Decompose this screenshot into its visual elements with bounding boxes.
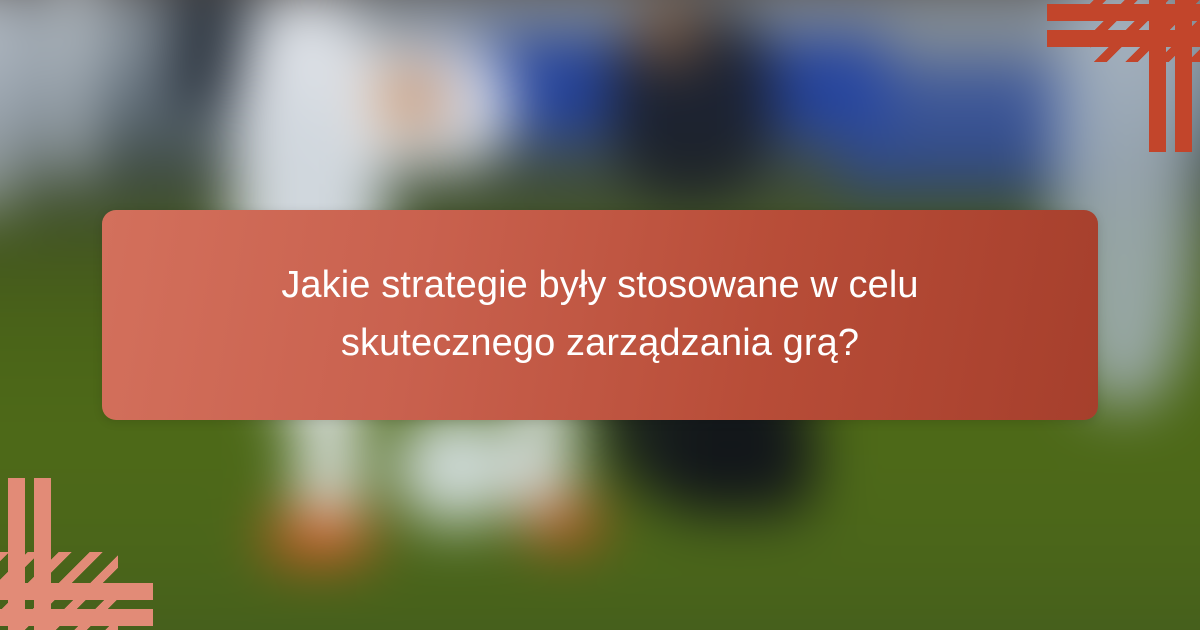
headline-text: Jakie strategie były stosowane w celu sk… xyxy=(226,257,974,373)
orange-boot-left xyxy=(265,515,373,560)
stripe-vertical-2 xyxy=(8,478,25,630)
corner-stripes-bottom-left xyxy=(0,470,170,630)
stripe-vertical-2 xyxy=(1175,0,1192,152)
corner-stripes-top-right xyxy=(1040,0,1200,160)
social-card: Jakie strategie były stosowane w celu sk… xyxy=(0,0,1200,630)
player-face xyxy=(373,61,449,137)
orange-boot-right xyxy=(527,504,603,543)
football-ball xyxy=(395,407,514,526)
dark-structure xyxy=(168,0,244,111)
stripe-vertical-1 xyxy=(34,478,51,630)
goal-post xyxy=(60,0,88,180)
stripe-vertical-1 xyxy=(1149,0,1166,152)
headline-banner: Jakie strategie były stosowane w celu sk… xyxy=(102,210,1098,420)
player-head-dark-kit xyxy=(635,0,704,66)
